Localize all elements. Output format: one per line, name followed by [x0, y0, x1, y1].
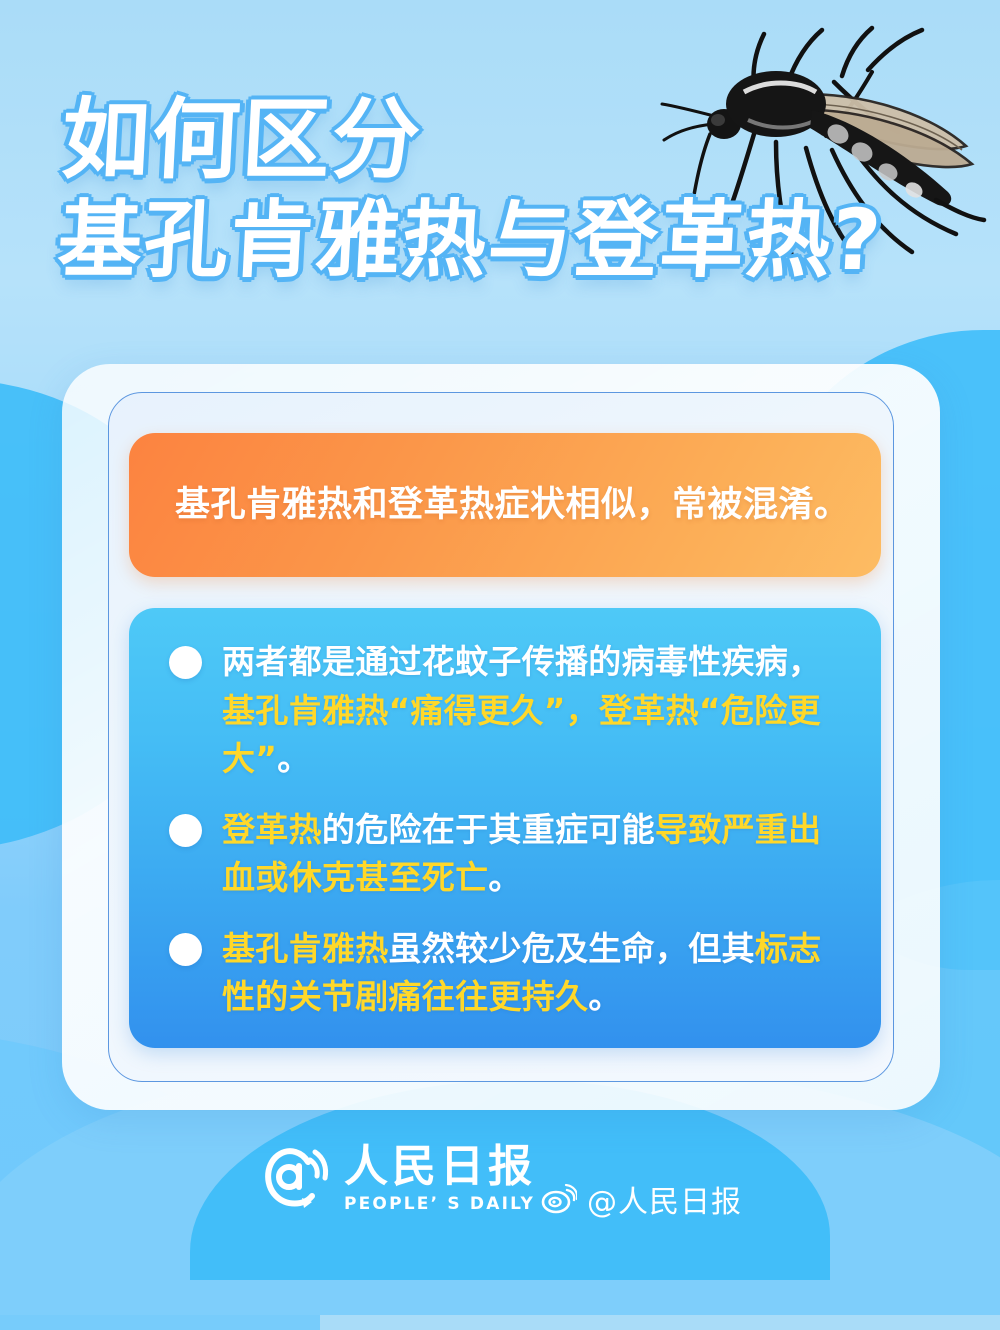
- summary-banner: 基孔肯雅热和登革热症状相似，常被混淆。: [129, 433, 881, 577]
- highlight-text: 基孔肯雅热“痛得更久”，登革热“危险更大”: [222, 691, 821, 779]
- highlight-text: 登革热: [222, 810, 322, 849]
- bullet-dot-icon: [169, 814, 202, 847]
- weibo-handle-row: @人民日报: [541, 1177, 742, 1221]
- bullet-text-2: 基孔肯雅热虽然较少危及生命，但其标志性的关节剧痛往往更持久。: [222, 925, 847, 1022]
- list-item: 基孔肯雅热虽然较少危及生命，但其标志性的关节剧痛往往更持久。: [155, 925, 847, 1022]
- poster-title: 如何区分 基孔肯雅热与登革热?: [0, 96, 1000, 282]
- highlight-text: 基孔肯雅热: [222, 929, 389, 968]
- plain-text: 。: [488, 858, 521, 897]
- plain-text: 虽然较少危及生命，但其: [389, 929, 755, 968]
- plain-text: 。: [277, 739, 310, 778]
- brand-name-cn: 人民日报: [344, 1145, 536, 1189]
- summary-banner-text: 基孔肯雅热和登革热症状相似，常被混淆。: [129, 481, 880, 529]
- weibo-icon: [541, 1184, 577, 1214]
- bullet-panel: 两者都是通过花蚊子传播的病毒性疾病，基孔肯雅热“痛得更久”，登革热“危险更大”。…: [129, 608, 881, 1048]
- at-wifi-logo-icon: [258, 1140, 332, 1214]
- footer: 人民日报 PEOPLE’ S DAILY @人民日报: [0, 1140, 1000, 1221]
- bullet-dot-icon: [169, 646, 202, 679]
- bullet-text-1: 登革热的危险在于其重症可能导致严重出血或休克甚至死亡。: [222, 806, 847, 903]
- title-line-2: 基孔肯雅热与登革热?: [0, 198, 1000, 282]
- bullet-text-0: 两者都是通过花蚊子传播的病毒性疾病，基孔肯雅热“痛得更久”，登革热“危险更大”。: [222, 638, 847, 784]
- bullet-dot-icon: [169, 933, 202, 966]
- list-item: 两者都是通过花蚊子传播的病毒性疾病，基孔肯雅热“痛得更久”，登革热“危险更大”。: [155, 638, 847, 784]
- plain-text: 。: [588, 977, 621, 1016]
- weibo-handle-text: @人民日报: [587, 1177, 742, 1221]
- brand-logo: 人民日报 PEOPLE’ S DAILY: [258, 1140, 536, 1214]
- title-line-1: 如何区分: [0, 96, 1000, 184]
- brand-text: 人民日报 PEOPLE’ S DAILY: [344, 1145, 536, 1214]
- brand-name-en: PEOPLE’ S DAILY: [344, 1194, 535, 1214]
- plain-text: 的危险在于其重症可能: [322, 810, 655, 849]
- plain-text: 两者都是通过花蚊子传播的病毒性疾病，: [222, 642, 821, 681]
- content-card-outer: 基孔肯雅热和登革热症状相似，常被混淆。 两者都是通过花蚊子传播的病毒性疾病，基孔…: [62, 364, 940, 1110]
- content-card-inner: 基孔肯雅热和登革热症状相似，常被混淆。 两者都是通过花蚊子传播的病毒性疾病，基孔…: [108, 392, 894, 1082]
- list-item: 登革热的危险在于其重症可能导致严重出血或休克甚至死亡。: [155, 806, 847, 903]
